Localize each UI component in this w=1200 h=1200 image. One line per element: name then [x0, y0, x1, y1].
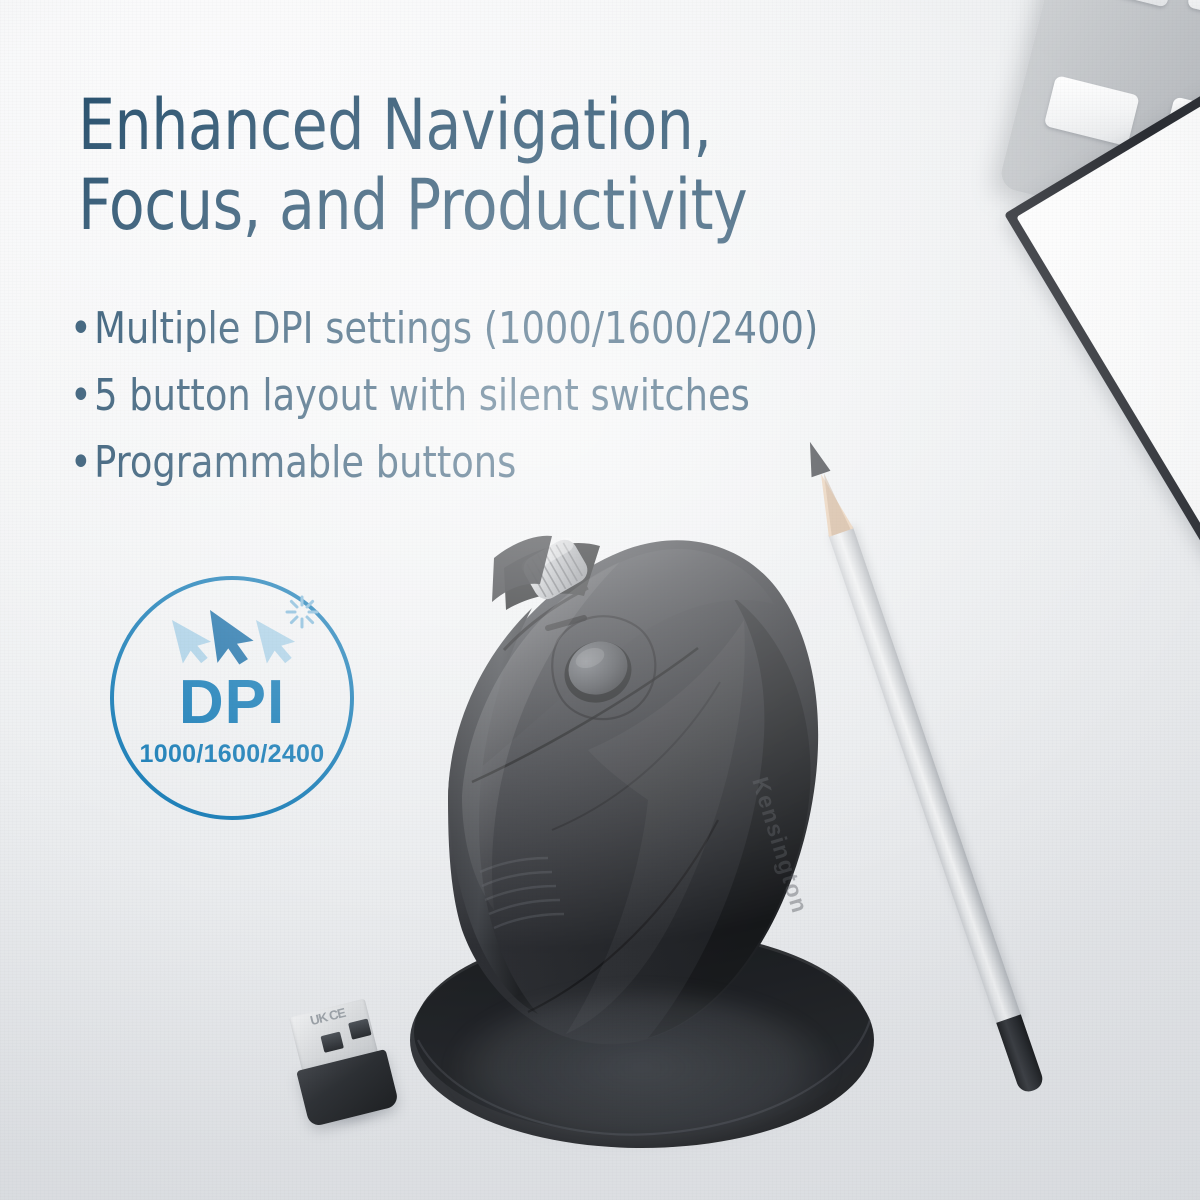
pencil-end-cap: [996, 1014, 1045, 1094]
mouse-product: Kensington: [352, 500, 952, 1180]
bullet-icon: •: [70, 363, 94, 430]
list-item-label: 5 button layout with silent switches: [94, 370, 750, 421]
dpi-badge-title: DPI: [110, 672, 354, 734]
cursor-icon-left: [172, 612, 216, 667]
product-marketing-image: Kensington UK CE: [0, 0, 1200, 1200]
feature-list: •Multiple DPI settings (1000/1600/2400) …: [70, 296, 1000, 497]
mouse-shadow: [392, 960, 892, 1175]
list-item: •Multiple DPI settings (1000/1600/2400): [70, 296, 1000, 363]
bullet-icon: •: [70, 430, 94, 497]
dpi-badge: DPI 1000/1600/2400: [110, 576, 354, 820]
dpi-badge-values: 1000/1600/2400: [110, 742, 354, 767]
page-title: Enhanced Navigation, Focus, and Producti…: [78, 86, 915, 246]
bullet-icon: •: [70, 296, 94, 363]
cursor-icon-center: [210, 605, 257, 668]
sparkle-icon: [287, 597, 317, 627]
list-item-label: Programmable buttons: [94, 437, 516, 488]
list-item: •5 button layout with silent switches: [70, 363, 1000, 430]
headline-line-2: Focus, and Productivity: [78, 166, 915, 246]
usb-contact-slot: [348, 1018, 372, 1039]
headline-line-1: Enhanced Navigation,: [78, 86, 915, 166]
list-item-label: Multiple DPI settings (1000/1600/2400): [94, 303, 818, 354]
list-item: •Programmable buttons: [70, 430, 1000, 497]
usb-contact-slot: [320, 1032, 344, 1053]
